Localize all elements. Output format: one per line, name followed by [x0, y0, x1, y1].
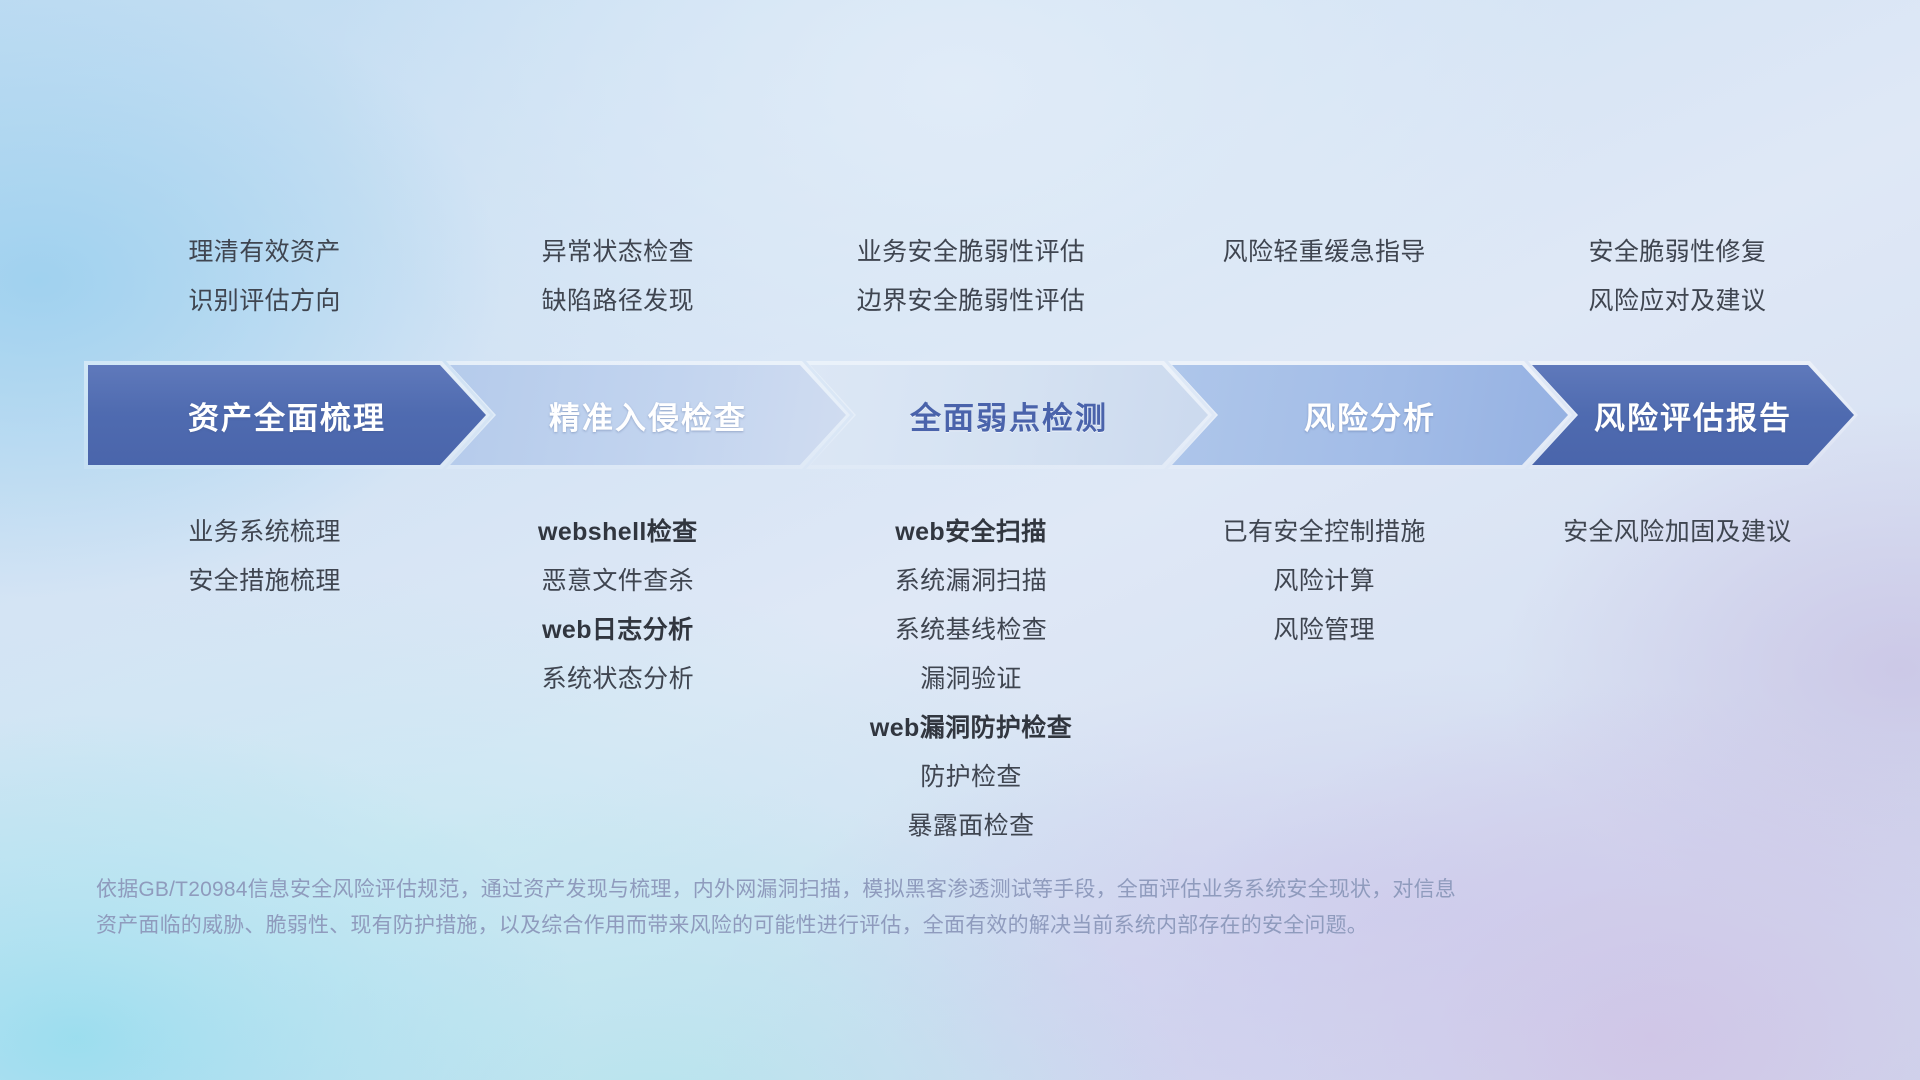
- detail-item: 风险管理: [1148, 606, 1501, 655]
- risk-assessment-process-diagram: 理清有效资产 识别评估方向 异常状态检查 缺陷路径发现 业务安全脆弱性评估 边界…: [0, 0, 1920, 1080]
- top-item: 风险轻重缓急指导: [1148, 228, 1501, 277]
- top-item: 识别评估方向: [88, 277, 441, 326]
- detail-item: 安全风险加固及建议: [1501, 508, 1854, 557]
- detail-item: web日志分析: [441, 606, 794, 655]
- detail-item: 业务系统梳理: [88, 508, 441, 557]
- top-item: 理清有效资产: [88, 228, 441, 277]
- detail-item: webshell检查: [441, 508, 794, 557]
- top-item: 缺陷路径发现: [441, 277, 794, 326]
- detail-item: 系统漏洞扫描: [794, 557, 1147, 606]
- footer-line-1: 依据GB/T20984信息安全风险评估规范，通过资产发现与梳理，内外网漏洞扫描，…: [96, 872, 1616, 908]
- stage-label: 资产全面梳理: [188, 393, 386, 438]
- top-column-assessment-report: 安全脆弱性修复 风险应对及建议: [1501, 228, 1854, 326]
- stage-chevron-risk-analysis[interactable]: 风险分析: [1172, 365, 1568, 465]
- top-item: 风险应对及建议: [1501, 277, 1854, 326]
- bottom-column-risk-analysis: 已有安全控制措施 风险计算 风险管理: [1148, 508, 1501, 851]
- top-column-asset-review: 理清有效资产 识别评估方向: [88, 228, 441, 326]
- top-item: 业务安全脆弱性评估: [794, 228, 1147, 277]
- bottom-column-assessment-report: 安全风险加固及建议: [1501, 508, 1854, 851]
- detail-item: 系统状态分析: [441, 655, 794, 704]
- detail-item: web漏洞防护检查: [794, 704, 1147, 753]
- footer-line-2: 资产面临的威胁、脆弱性、现有防护措施，以及综合作用而带来风险的可能性进行评估，全…: [96, 908, 1616, 944]
- bottom-column-intrusion-check: webshell检查 恶意文件查杀 web日志分析 系统状态分析: [441, 508, 794, 851]
- stage-label: 风险评估报告: [1594, 393, 1792, 438]
- top-column-risk-analysis: 风险轻重缓急指导: [1148, 228, 1501, 326]
- top-descriptor-row: 理清有效资产 识别评估方向 异常状态检查 缺陷路径发现 业务安全脆弱性评估 边界…: [88, 228, 1854, 326]
- stage-chevron-asset-review[interactable]: 资产全面梳理: [88, 365, 486, 465]
- stage-chevron-weakness-detection[interactable]: 全面弱点检测: [810, 365, 1208, 465]
- detail-item: 系统基线检查: [794, 606, 1147, 655]
- bottom-column-asset-review: 业务系统梳理 安全措施梳理: [88, 508, 441, 851]
- detail-item: 暴露面检查: [794, 802, 1147, 851]
- stage-label: 精准入侵检查: [549, 393, 747, 438]
- stage-label: 风险分析: [1304, 393, 1436, 438]
- top-item: 安全脆弱性修复: [1501, 228, 1854, 277]
- stage-chevron-intrusion-check[interactable]: 精准入侵检查: [450, 365, 846, 465]
- detail-item: 防护检查: [794, 753, 1147, 802]
- process-stage-band: 资产全面梳理 精准入侵检查 全面弱点检测 风险分析 风险评估报告: [88, 365, 1854, 465]
- detail-item: 风险计算: [1148, 557, 1501, 606]
- detail-item: 已有安全控制措施: [1148, 508, 1501, 557]
- top-column-intrusion-check: 异常状态检查 缺陷路径发现: [441, 228, 794, 326]
- bottom-column-weakness-detection: web安全扫描 系统漏洞扫描 系统基线检查 漏洞验证 web漏洞防护检查 防护检…: [794, 508, 1147, 851]
- detail-item: 安全措施梳理: [88, 557, 441, 606]
- footer-description: 依据GB/T20984信息安全风险评估规范，通过资产发现与梳理，内外网漏洞扫描，…: [96, 872, 1616, 944]
- stage-label: 全面弱点检测: [910, 393, 1108, 438]
- top-column-weakness-detection: 业务安全脆弱性评估 边界安全脆弱性评估: [794, 228, 1147, 326]
- top-item: 边界安全脆弱性评估: [794, 277, 1147, 326]
- detail-item: 漏洞验证: [794, 655, 1147, 704]
- top-item: 异常状态检查: [441, 228, 794, 277]
- stage-chevron-assessment-report[interactable]: 风险评估报告: [1532, 365, 1854, 465]
- detail-item: 恶意文件查杀: [441, 557, 794, 606]
- bottom-detail-row: 业务系统梳理 安全措施梳理 webshell检查 恶意文件查杀 web日志分析 …: [88, 508, 1854, 851]
- detail-item: web安全扫描: [794, 508, 1147, 557]
